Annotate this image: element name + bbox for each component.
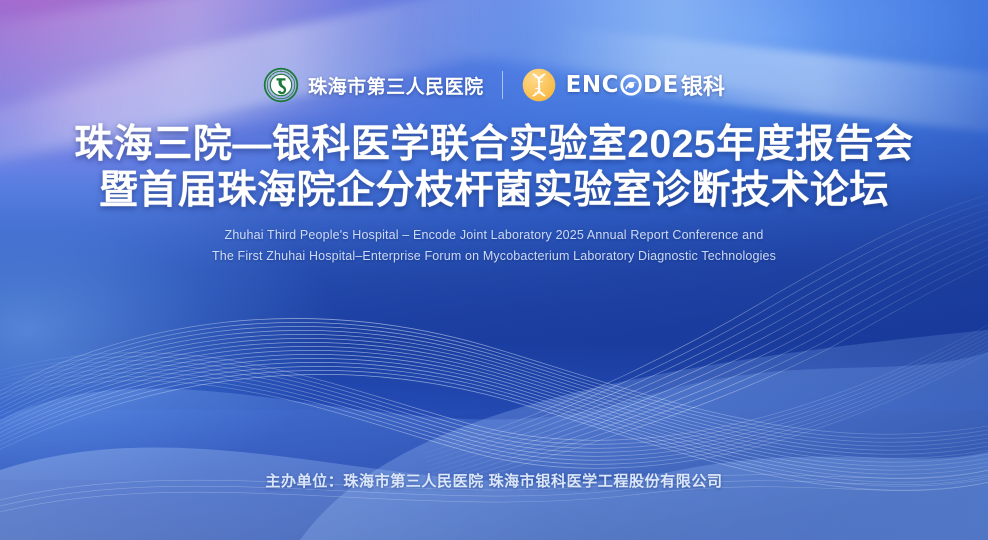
subtitle-line-2: The First Zhuhai Hospital–Enterprise For…: [0, 246, 988, 267]
encode-latin-after: DE: [643, 72, 679, 98]
encode-logo: ENC DE 银科: [521, 67, 725, 103]
logo-row: 珠海市第三人民医院: [0, 62, 988, 108]
encode-latin-before: ENC: [566, 72, 619, 98]
title-line-1: 珠海三院—银科医学联合实验室2025年度报告会: [0, 122, 988, 168]
conference-poster: 珠海市第三人民医院: [0, 0, 988, 540]
subtitle-line-1: Zhuhai Third People's Hospital – Encode …: [0, 225, 988, 246]
hospital-name: 珠海市第三人民医院: [308, 72, 484, 99]
encode-o-swoosh-icon: [620, 74, 642, 96]
subtitle-block: Zhuhai Third People's Hospital – Encode …: [0, 225, 988, 267]
title-line-2: 暨首届珠海院企分枝杆菌实验室诊断技术论坛: [0, 168, 988, 214]
hospital-logo: 珠海市第三人民医院: [263, 67, 484, 103]
hospital-emblem-icon: [263, 67, 299, 103]
title-block: 珠海三院—银科医学联合实验室2025年度报告会 暨首届珠海院企分枝杆菌实验室诊断…: [0, 122, 988, 214]
logo-divider: [502, 71, 503, 99]
organizer-line: 主办单位：珠海市第三人民医院 珠海市银科医学工程股份有限公司: [0, 470, 988, 491]
dna-helix-icon: [521, 67, 557, 103]
encode-chinese-name: 银科: [681, 69, 725, 101]
